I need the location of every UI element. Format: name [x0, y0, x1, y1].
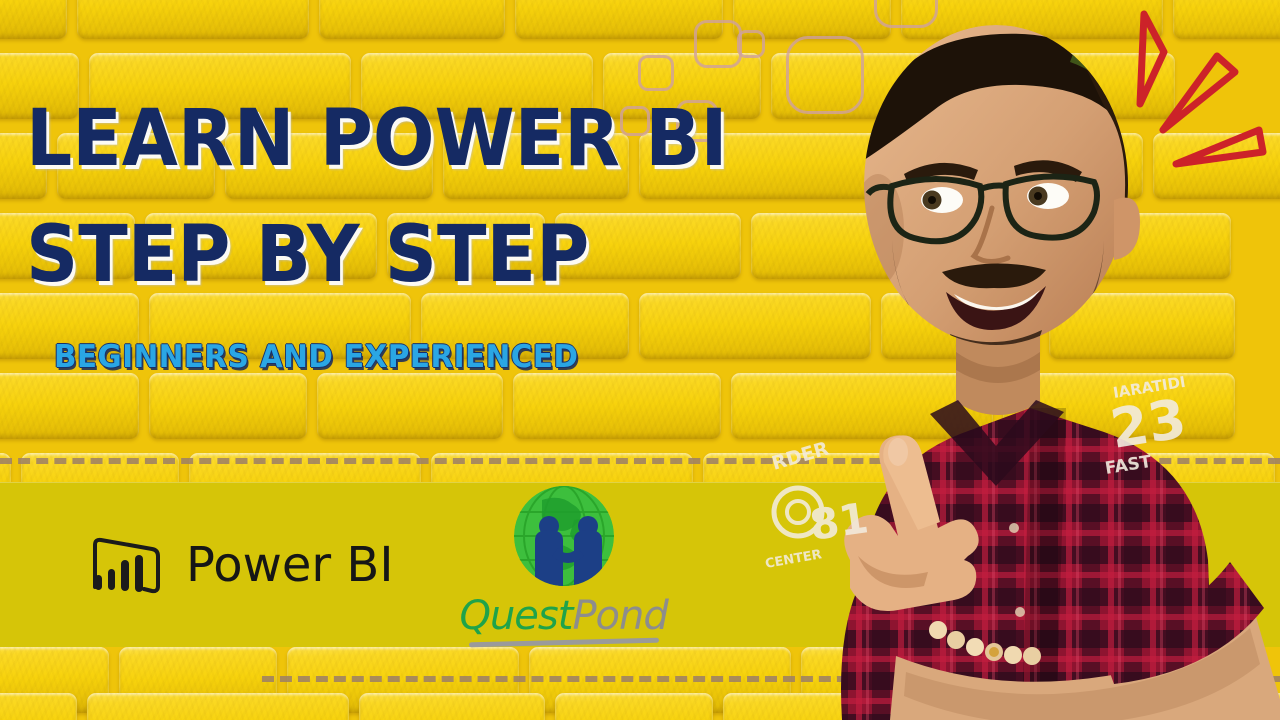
- powerbi-logo: Power BI: [86, 529, 393, 601]
- questpond-word-quest: Quest: [459, 593, 572, 639]
- thumbnail-canvas: LEARN POWER BI STEP BY STEP BEGINNERS AN…: [0, 0, 1280, 720]
- powerbi-bar-chart-icon: [86, 529, 164, 601]
- questpond-globe-handshake-icon: [502, 486, 626, 594]
- decor-square-icon: [694, 20, 742, 68]
- questpond-wordmark: QuestPond: [459, 596, 667, 636]
- decor-square-icon: [638, 55, 674, 91]
- questpond-logo: QuestPond: [459, 486, 667, 645]
- questpond-word-pond: Pond: [572, 593, 667, 639]
- svg-text:81: 81: [807, 493, 872, 550]
- subtitle-audience: BEGINNERS AND EXPERIENCED: [54, 339, 787, 375]
- logo-row: Power BI: [0, 482, 668, 647]
- headline-line-1: LEARN POWER BI: [26, 102, 770, 178]
- title-block: LEARN POWER BI STEP BY STEP BEGINNERS AN…: [26, 102, 826, 375]
- svg-text:CENTER: CENTER: [764, 547, 823, 572]
- powerbi-wordmark: Power BI: [186, 537, 393, 593]
- svg-text:RDER: RDER: [769, 438, 831, 475]
- headline-line-2: STEP BY STEP: [26, 218, 770, 294]
- questpond-underline: [469, 638, 659, 648]
- presenter-photo: IARATIDI 23 FAST RDER 81 CENTER: [746, 0, 1280, 720]
- svg-text:23: 23: [1106, 387, 1190, 461]
